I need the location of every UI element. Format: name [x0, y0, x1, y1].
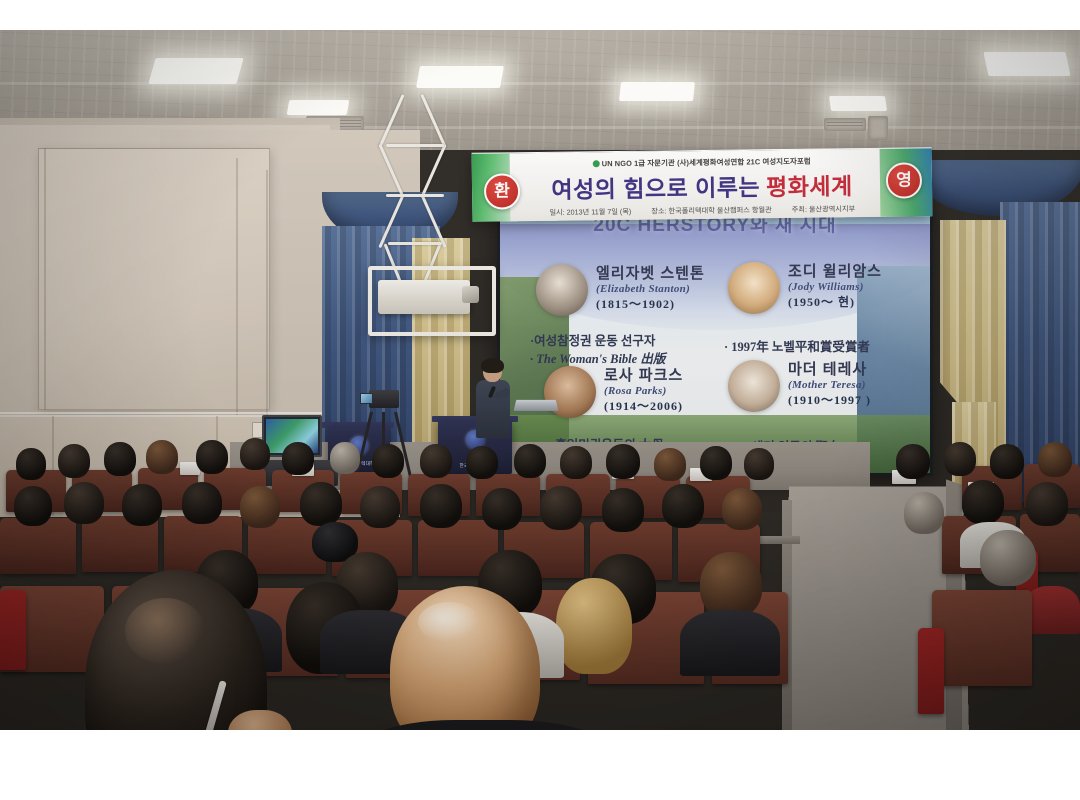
audience-head: [662, 484, 704, 528]
projector-lens-icon: [462, 286, 479, 303]
banner-date: 일시: 2013년 11월 7일 (목): [549, 207, 631, 217]
wall-panel-seam: [44, 148, 46, 410]
audience-head: [514, 444, 546, 478]
audience-head: [700, 552, 762, 618]
audience-head: [944, 442, 976, 476]
slide-bullet: ·여성참정권 운동 선구자: [530, 330, 655, 349]
audience-head: [16, 448, 46, 480]
audience-head: [700, 446, 732, 480]
conference-hall-photograph: 20C HERSTORY와 새 시대 엘리자벳 스텐톤 (Elizabeth S…: [0, 30, 1080, 730]
audience-head: [330, 442, 360, 474]
figure-name-en: (Elizabeth Stanton): [596, 283, 705, 295]
presenter: [474, 360, 512, 440]
audience-head: [602, 488, 644, 532]
audience-head: [560, 446, 592, 479]
figure-name-kr: 조디 윌리암스: [788, 260, 882, 281]
audience-head: [904, 492, 944, 534]
audience-head: [58, 444, 90, 478]
ceiling-light: [148, 58, 243, 84]
figure-name-kr: 로사 파크스: [604, 364, 683, 385]
foreground-person-right-body: [338, 720, 628, 730]
seat-row-mid: [0, 518, 76, 574]
camera-body: [369, 390, 399, 408]
audience-head: [654, 448, 686, 481]
figure-name-en: (Jody Williams): [788, 281, 882, 293]
figure-years: (1914〜2006): [604, 397, 683, 414]
figure-name-kr: 엘리자벳 스텐톤: [596, 262, 705, 283]
presenter-hair: [481, 358, 504, 373]
audience-head: [300, 482, 342, 526]
audience-head: [1038, 442, 1072, 477]
ceiling-light: [619, 82, 695, 101]
banner-ngo-text: UN NGO 1급 자문기관 (사)세계평화여성연합 21C 여성지도자포럼: [602, 157, 811, 169]
audience-head: [1026, 482, 1068, 526]
projector-icon: [378, 280, 470, 314]
audience-head: [990, 444, 1024, 479]
audience-head: [104, 442, 136, 476]
audience-head: [146, 440, 178, 474]
seat-row-near: [932, 590, 1032, 686]
audience-head: [420, 444, 452, 478]
figure-years: (1815〜1902): [596, 295, 705, 312]
ceiling-light: [829, 96, 887, 111]
audience-head: [540, 486, 582, 530]
audience-head: [240, 486, 280, 528]
seat-side-red: [0, 590, 26, 670]
banner-title-part1: 여성의 힘으로 이루는: [551, 174, 760, 203]
figure-years: (1910〜1997 ): [788, 391, 871, 408]
audience-head: [980, 530, 1036, 586]
audience-head: [962, 480, 1004, 524]
audience-head: [64, 482, 104, 524]
presentation-slide: 20C HERSTORY와 새 시대 엘리자벳 스텐톤 (Elizabeth S…: [500, 208, 930, 473]
audience-head: [14, 486, 52, 526]
audience-shoulders: [1024, 586, 1080, 634]
audience-head: [372, 444, 404, 478]
ceiling-light: [287, 100, 350, 115]
audience-head: [466, 446, 498, 479]
wall-panel-seam: [236, 158, 238, 418]
audience-head: [722, 488, 762, 530]
audience-head: [556, 578, 632, 674]
laptop-on-podium: [514, 400, 559, 411]
banner-place: 장소: 한국폴리텍대학 울산캠퍼스 항월관: [651, 205, 772, 215]
banner-subline: 일시: 2013년 11월 7일 (목)장소: 한국폴리텍대학 울산캠퍼스 항월…: [472, 203, 932, 219]
scalp-highlight: [125, 598, 205, 664]
portrait-jody-williams: [728, 262, 780, 314]
audience-head: [482, 488, 522, 530]
scalp-highlight: [418, 602, 480, 642]
audience-head: [896, 444, 930, 479]
ceiling-light: [983, 52, 1070, 76]
audience-head: [196, 440, 228, 474]
audience-head: [240, 438, 270, 470]
welcome-banner: 환 영 UN NGO 1급 자문기관 (사)세계평화여성연합 21C 여성지도자…: [472, 147, 933, 222]
speaker-box: [868, 116, 888, 140]
camera-flip-screen: [360, 393, 373, 404]
figure-name-en: (Rosa Parks): [604, 385, 683, 397]
audience-head: [606, 444, 640, 479]
figure-name-en: (Mother Teresa): [788, 379, 871, 391]
air-vent: [824, 118, 866, 131]
audience-head: [360, 486, 400, 528]
audience-head: [744, 448, 774, 480]
seat-side-red: [918, 628, 944, 714]
ceiling-light: [416, 66, 504, 88]
audience-shoulders: [680, 610, 780, 676]
banner-host: 주최: 울산광역시지부: [792, 204, 856, 214]
wall-panel-seam: [266, 170, 268, 420]
banner-title: 여성의 힘으로 이루는평화세계: [472, 166, 932, 206]
projection-screen: 20C HERSTORY와 새 시대 엘리자벳 스텐톤 (Elizabeth S…: [497, 205, 933, 476]
slide-bullet: · 1997年 노벨平和賞受賞者: [724, 336, 870, 355]
banner-title-part2: 평화세계: [766, 173, 853, 200]
audience-head: [282, 442, 314, 475]
un-ngo-dot-icon: [593, 160, 600, 167]
figure-name-kr: 마더 테레사: [788, 358, 871, 379]
audience-head: [420, 484, 462, 528]
figure-years: (1950〜 현): [788, 293, 882, 310]
audience-head: [122, 484, 162, 526]
portrait-mother-teresa: [728, 360, 780, 412]
audience-head: [182, 482, 222, 524]
portrait-elizabeth-stanton: [536, 264, 588, 316]
